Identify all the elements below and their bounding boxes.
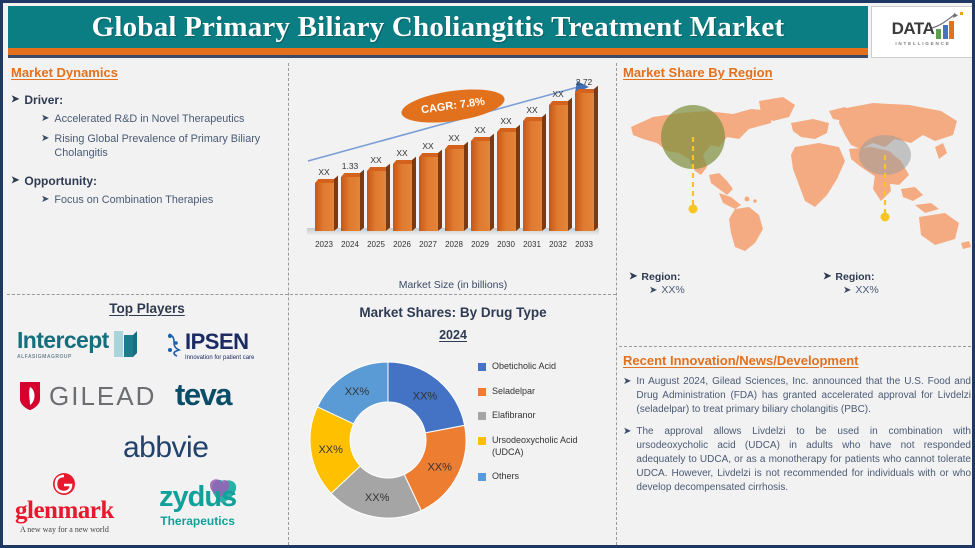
bar-value-label: XX bbox=[448, 133, 459, 143]
bar-value-label: XX bbox=[318, 167, 329, 177]
logo-ipsen: IPSEN Innovation for patient care bbox=[163, 329, 254, 361]
driver-item-text: Rising Global Prevalence of Primary Bili… bbox=[54, 132, 283, 161]
bar-face bbox=[471, 141, 490, 231]
logo-teva: teva bbox=[175, 377, 231, 413]
donut-slice-label: XX% bbox=[345, 386, 370, 398]
bar-value-label: XX bbox=[474, 125, 485, 135]
divider-horizontal-right bbox=[619, 346, 971, 347]
bar-category-label: 2029 bbox=[471, 240, 489, 249]
arrow-bullet-icon: ➤ bbox=[41, 132, 49, 146]
divider-horizontal-center bbox=[290, 294, 616, 295]
intercept-mark-icon bbox=[112, 329, 138, 359]
donut-chart-subtitle: 2024 bbox=[295, 328, 611, 342]
logo-glenmark-text: glenmark bbox=[15, 497, 114, 525]
bar-side bbox=[594, 86, 598, 231]
driver-label: Driver: bbox=[24, 93, 63, 107]
bar-category-label: 2032 bbox=[549, 240, 567, 249]
opportunity-label: Opportunity: bbox=[24, 174, 97, 188]
logo-glenmark-subtext: A new way for a new world bbox=[20, 525, 109, 534]
bar-column bbox=[341, 177, 360, 231]
arrow-bullet-icon: ➤ bbox=[11, 174, 19, 188]
bar-side bbox=[360, 170, 364, 231]
logo-zydus-subtext: Therapeutics bbox=[160, 514, 235, 528]
bar-column bbox=[419, 157, 438, 231]
bar-column bbox=[315, 183, 334, 231]
bar-value-label: XX bbox=[396, 148, 407, 158]
legend-label: Obeticholic Acid bbox=[492, 361, 556, 373]
logo-ipsen-text: IPSEN bbox=[185, 329, 254, 355]
logo-zydus-text: zydus bbox=[159, 481, 236, 514]
header-navy-rule bbox=[8, 55, 868, 58]
bar-side bbox=[412, 157, 416, 231]
logo-intercept-text: Intercept bbox=[17, 327, 109, 354]
bar-category-label: 2023 bbox=[315, 240, 333, 249]
bar-category-label: 2030 bbox=[497, 240, 515, 249]
bar-side bbox=[542, 114, 546, 231]
donut-slice-label: XX% bbox=[413, 390, 438, 402]
bar-category-label: 2026 bbox=[393, 240, 411, 249]
opportunity-heading: ➤ Opportunity: bbox=[11, 174, 283, 188]
donut-slice-label: XX% bbox=[365, 492, 390, 504]
market-dynamics-panel: Market Dynamics ➤ Driver: ➤ Accelerated … bbox=[11, 65, 283, 291]
logo-glenmark: glenmark A new way for a new world bbox=[15, 471, 114, 534]
world-map bbox=[623, 89, 971, 251]
market-share-region-panel: Market Share By Region bbox=[623, 65, 971, 291]
logo-teva-text: teva bbox=[175, 377, 231, 413]
divider-vertical-left bbox=[288, 63, 289, 545]
legend-label: Seladelpar bbox=[492, 386, 535, 398]
bar-face bbox=[419, 157, 438, 231]
bar-column bbox=[367, 171, 386, 231]
region-label: Region: bbox=[835, 271, 874, 283]
arrow-bullet-icon: ➤ bbox=[629, 270, 637, 284]
bar-category-label: 2033 bbox=[575, 240, 593, 249]
driver-item: ➤ Accelerated R&D in Novel Therapeutics bbox=[41, 112, 283, 127]
legend-swatch bbox=[478, 412, 486, 420]
bar-category-label: 2027 bbox=[419, 240, 437, 249]
bar-face bbox=[497, 132, 516, 231]
driver-item-text: Accelerated R&D in Novel Therapeutics bbox=[54, 112, 244, 127]
bar-value-label: XX bbox=[370, 155, 381, 165]
bar-side bbox=[464, 142, 468, 231]
bar-value-label: XX bbox=[500, 116, 511, 126]
bar-face bbox=[393, 164, 412, 231]
bar-side bbox=[568, 98, 572, 231]
donut-slice-label: XX% bbox=[427, 461, 452, 473]
page-header: Global Primary Biliary Choliangitis Trea… bbox=[3, 3, 975, 61]
logo-subtext: INTELLIGENCE bbox=[895, 41, 950, 46]
arrow-bullet-icon: ➤ bbox=[843, 284, 851, 298]
bar-chart-axis-label: Market Size (in billions) bbox=[295, 279, 611, 291]
bar-column bbox=[497, 132, 516, 231]
arrow-bullet-icon: ➤ bbox=[649, 284, 657, 298]
legend-swatch bbox=[478, 388, 486, 396]
donut-legend-item: Seladelpar bbox=[478, 386, 606, 398]
bar-category-label: 2031 bbox=[523, 240, 541, 249]
logo-arrow-icon bbox=[930, 12, 968, 30]
region-value: XX% bbox=[661, 284, 684, 296]
divider-vertical-right bbox=[616, 63, 617, 545]
bar-column bbox=[471, 141, 490, 231]
arrow-bullet-icon: ➤ bbox=[11, 93, 19, 107]
bar-category-label: 2028 bbox=[445, 240, 463, 249]
news-item-text: In August 2024, Gilead Sciences, Inc. an… bbox=[636, 375, 971, 418]
recent-news-panel: Recent Innovation/News/Development ➤ In … bbox=[623, 351, 971, 545]
legend-swatch bbox=[478, 437, 486, 445]
bar-face bbox=[445, 149, 464, 231]
page-title: Global Primary Biliary Choliangitis Trea… bbox=[92, 11, 785, 44]
glenmark-mark-icon bbox=[47, 471, 81, 497]
bar-side bbox=[490, 133, 494, 231]
bar-side bbox=[386, 164, 390, 231]
legend-label: Ursodeoxycholic Acid (UDCA) bbox=[492, 435, 606, 458]
driver-heading: ➤ Driver: bbox=[11, 93, 283, 107]
logo-ipsen-subtext: Innovation for patient care bbox=[185, 355, 254, 361]
bar-column bbox=[445, 149, 464, 231]
market-size-bar-chart: XX20231.332024XX2025XX2026XX2027XX2028XX… bbox=[295, 65, 611, 291]
region-value: XX% bbox=[855, 284, 878, 296]
opportunity-item-text: Focus on Combination Therapies bbox=[54, 193, 213, 208]
donut-chart: XX%XX%XX%XX%XX% bbox=[303, 355, 473, 525]
bar-value-label: XX bbox=[552, 89, 563, 99]
player-logo-grid: Intercept ALFASIGMAGROUP IPSEN bbox=[11, 321, 283, 543]
region-callout-left: ➤ Region: ➤ XX% bbox=[629, 270, 685, 298]
bar-value-label: 2.72 bbox=[576, 77, 593, 87]
logo-text: DATA bbox=[892, 19, 935, 39]
bar-face bbox=[341, 177, 360, 231]
divider-horizontal-left bbox=[7, 294, 288, 295]
news-item: ➤ In August 2024, Gilead Sciences, Inc. … bbox=[623, 375, 971, 418]
bar-face bbox=[575, 93, 594, 231]
recent-news-title: Recent Innovation/News/Development bbox=[623, 353, 971, 368]
top-players-title: Top Players bbox=[11, 301, 283, 316]
bar-value-label: XX bbox=[526, 105, 537, 115]
donut-chart-title: Market Shares: By Drug Type bbox=[295, 305, 611, 320]
logo-gilead: GILEAD bbox=[17, 379, 156, 413]
donut-legend: Obeticholic AcidSeladelparElafibranorUrs… bbox=[478, 361, 606, 496]
bar-column bbox=[523, 121, 542, 231]
logo-gilead-text: GILEAD bbox=[49, 381, 156, 412]
brand-logo: DATA INTELLIGENCE bbox=[871, 6, 975, 58]
legend-swatch bbox=[478, 473, 486, 481]
arrow-bullet-icon: ➤ bbox=[41, 193, 49, 207]
legend-label: Elafibranor bbox=[492, 410, 536, 422]
legend-label: Others bbox=[492, 471, 519, 483]
logo-zydus: zydus Therapeutics bbox=[159, 481, 236, 528]
donut-legend-item: Others bbox=[478, 471, 606, 483]
arrow-bullet-icon: ➤ bbox=[823, 270, 831, 284]
bar-column bbox=[575, 93, 594, 231]
bar-column bbox=[549, 105, 568, 231]
news-item: ➤ The approval allows Livdelzi to be use… bbox=[623, 425, 971, 496]
bar-side bbox=[516, 124, 520, 231]
logo-intercept: Intercept ALFASIGMAGROUP bbox=[17, 327, 138, 360]
arrow-bullet-icon: ➤ bbox=[41, 112, 49, 126]
bar-value-label: 1.33 bbox=[342, 161, 359, 171]
bar-value-label: XX bbox=[422, 141, 433, 151]
logo-abbvie-text: abbvie bbox=[123, 431, 208, 465]
bar-face bbox=[523, 121, 542, 231]
region-callout-right: ➤ Region: ➤ XX% bbox=[823, 270, 879, 298]
top-players-panel: Top Players Intercept ALFASIGMAGROUP bbox=[11, 299, 283, 545]
donut-legend-item: Elafibranor bbox=[478, 410, 606, 422]
bar-face bbox=[549, 105, 568, 231]
world-map-icon bbox=[623, 89, 971, 251]
legend-swatch bbox=[478, 363, 486, 371]
bar-chart-plot: XX20231.332024XX2025XX2026XX2027XX2028XX… bbox=[303, 73, 603, 253]
bar-face bbox=[367, 171, 386, 231]
region-label: Region: bbox=[641, 271, 680, 283]
donut-slice-label: XX% bbox=[318, 444, 343, 456]
news-item-text: The approval allows Livdelzi to be used … bbox=[636, 425, 971, 496]
donut-legend-item: Ursodeoxycholic Acid (UDCA) bbox=[478, 435, 606, 458]
arrow-bullet-icon: ➤ bbox=[623, 425, 631, 439]
arrow-bullet-icon: ➤ bbox=[623, 375, 631, 389]
drug-type-share-panel: Market Shares: By Drug Type 2024 XX%XX%X… bbox=[295, 299, 611, 545]
logo-abbvie: abbvie bbox=[123, 431, 208, 465]
opportunity-item: ➤ Focus on Combination Therapies bbox=[41, 193, 283, 208]
bar-side bbox=[334, 176, 338, 231]
header-orange-rule bbox=[8, 48, 868, 55]
bar-category-label: 2025 bbox=[367, 240, 385, 249]
gilead-shield-icon bbox=[17, 379, 43, 413]
header-banner: Global Primary Biliary Choliangitis Trea… bbox=[8, 6, 868, 48]
bar-face bbox=[315, 183, 334, 231]
bar-category-label: 2024 bbox=[341, 240, 359, 249]
bar-column bbox=[393, 164, 412, 231]
infographic-page: Global Primary Biliary Choliangitis Trea… bbox=[0, 0, 975, 548]
ipsen-helix-icon bbox=[163, 332, 185, 358]
market-dynamics-title: Market Dynamics bbox=[11, 65, 283, 80]
logo-intercept-subtext: ALFASIGMAGROUP bbox=[17, 354, 109, 360]
driver-item: ➤ Rising Global Prevalence of Primary Bi… bbox=[41, 132, 283, 161]
bar-side bbox=[438, 150, 442, 231]
donut-legend-item: Obeticholic Acid bbox=[478, 361, 606, 373]
market-share-region-title: Market Share By Region bbox=[623, 65, 971, 80]
